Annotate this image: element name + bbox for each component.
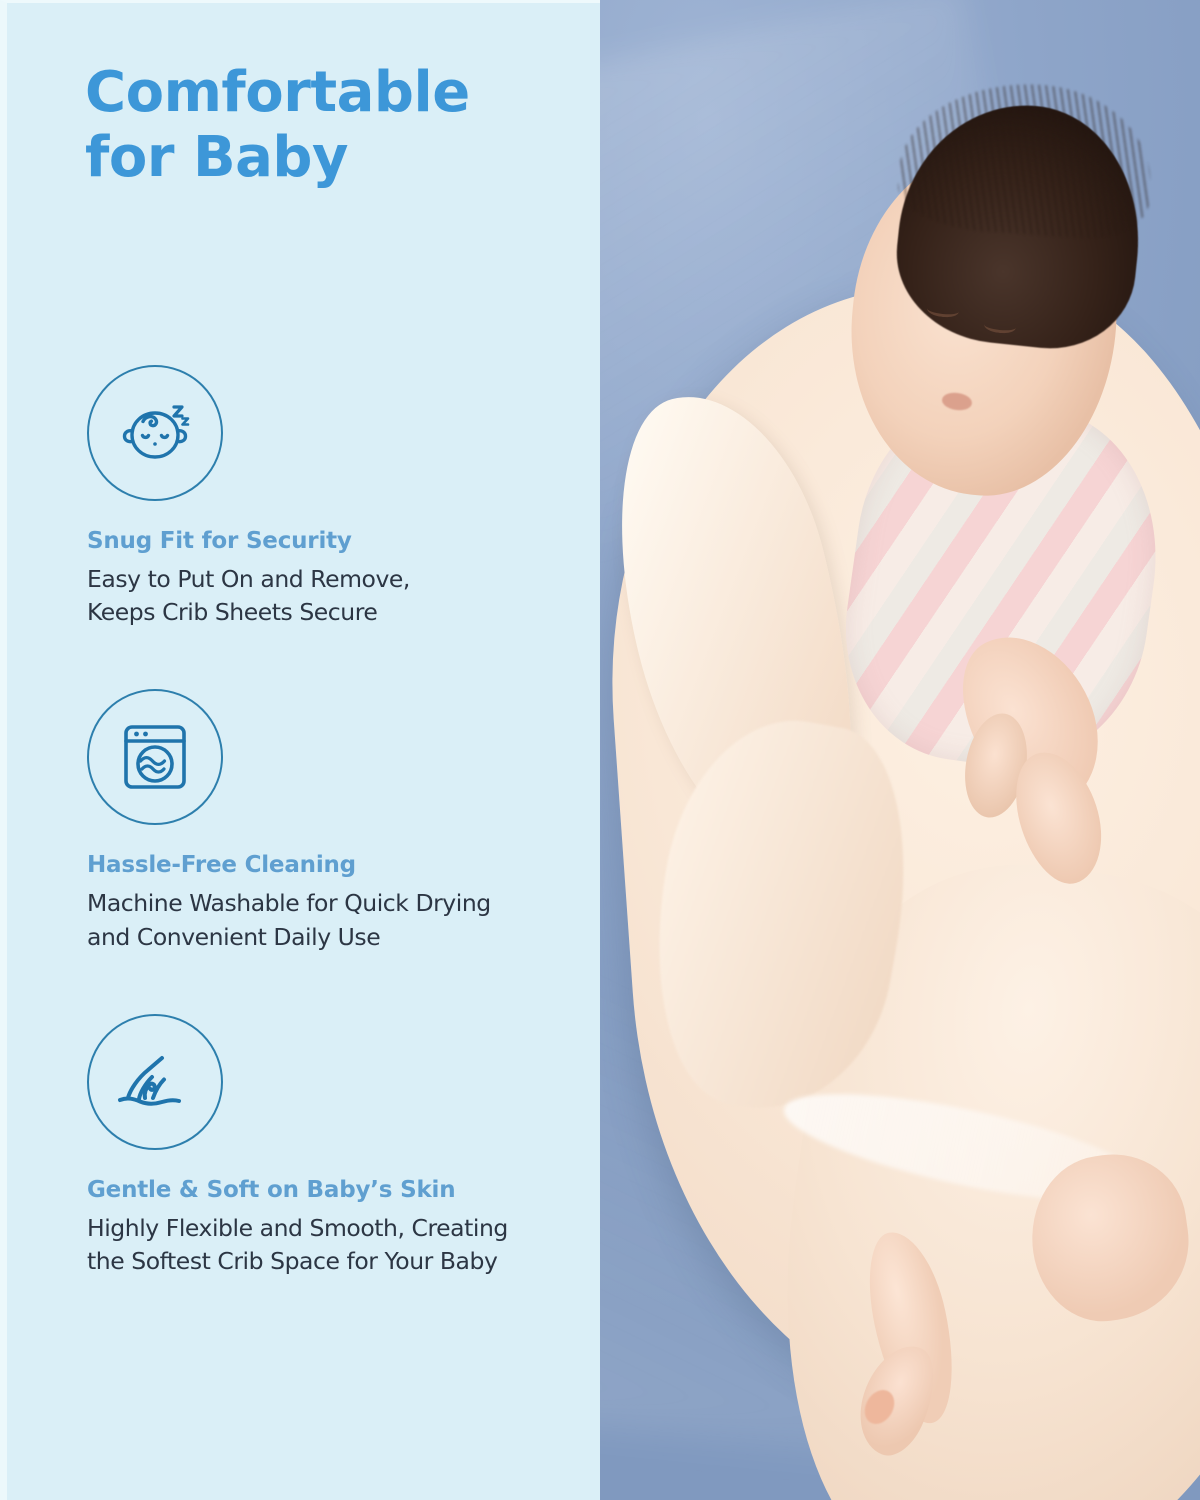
feature-title: Hassle-Free Cleaning <box>87 851 587 880</box>
baby-photo <box>600 0 1200 1500</box>
washing-machine-icon <box>87 689 223 825</box>
feature-description: Machine Washable for Quick Drying and Co… <box>87 887 587 954</box>
features-panel: Comfortable for Baby <box>0 0 600 1500</box>
feature-title: Gentle & Soft on Baby’s Skin <box>87 1176 587 1205</box>
photo-stage <box>600 0 1200 1500</box>
feature-item-gentle-soft: Gentle & Soft on Baby’s Skin Highly Flex… <box>87 1014 587 1278</box>
feature-title: Snug Fit for Security <box>87 527 587 556</box>
hand-on-fabric-icon <box>87 1014 223 1150</box>
feature-item-cleaning: Hassle-Free Cleaning Machine Washable fo… <box>87 689 587 953</box>
feature-item-snug-fit: Snug Fit for Security Easy to Put On and… <box>87 365 587 629</box>
feature-description: Highly Flexible and Smooth, Creating the… <box>87 1212 587 1279</box>
feature-list: Snug Fit for Security Easy to Put On and… <box>87 365 587 1278</box>
page-title: Comfortable for Baby <box>85 61 555 191</box>
product-feature-page: Comfortable for Baby <box>0 0 1200 1500</box>
sleeping-baby-icon <box>87 365 223 501</box>
feature-description: Easy to Put On and Remove, Keeps Crib Sh… <box>87 563 587 630</box>
